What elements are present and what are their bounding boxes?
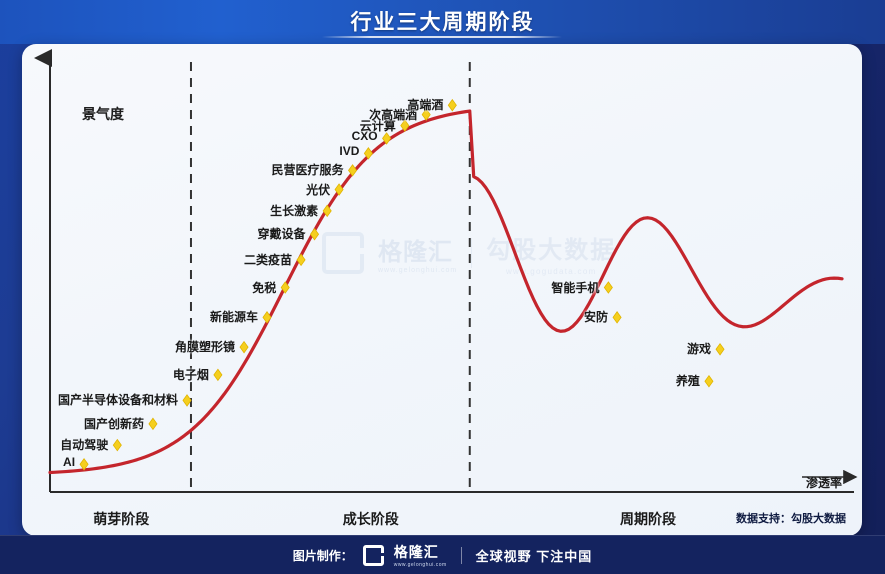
data-point-label: AI — [63, 455, 75, 469]
data-point-label: 民营医疗服务 — [272, 161, 344, 178]
gelonghui-logo-icon-footer — [363, 545, 384, 566]
data-point-label: 国产半导体设备和材料 — [58, 391, 178, 408]
data-point-marker[interactable] — [240, 342, 248, 353]
x-axis-label: 渗透率 — [806, 474, 842, 491]
data-point-label: 安防 — [584, 308, 608, 325]
data-point-marker[interactable] — [604, 282, 612, 293]
data-point-label: 生长激素 — [270, 202, 318, 219]
title-underline — [322, 36, 562, 38]
footer-slogan: 全球视野 下注中国 — [476, 546, 593, 565]
data-point-label: 免税 — [252, 279, 276, 296]
page-title: 行业三大周期阶段 — [0, 6, 885, 36]
data-source-note: 数据支持：勾股大数据 — [736, 510, 846, 526]
chart-svg — [22, 44, 862, 536]
data-point-label: 养殖 — [676, 372, 700, 389]
footer-brand-url: www.gelonghui.com — [394, 562, 447, 568]
data-point-label: 光伏 — [306, 181, 330, 198]
stage-label: 成长阶段 — [343, 509, 399, 529]
data-point-label: 二类疫苗 — [244, 251, 292, 268]
data-point-label: 角膜塑形镜 — [175, 338, 235, 355]
data-point-label: IVD — [339, 144, 359, 158]
data-point-label: 新能源车 — [210, 308, 258, 325]
data-point-markers — [80, 100, 724, 470]
data-point-label: 自动驾驶 — [60, 436, 108, 453]
data-point-marker[interactable] — [448, 100, 456, 111]
data-point-marker[interactable] — [716, 344, 724, 355]
footer-divider — [461, 547, 462, 564]
data-point-marker[interactable] — [613, 312, 621, 323]
data-point-label: 高端酒 — [407, 96, 443, 113]
data-point-marker[interactable] — [149, 418, 157, 429]
data-point-label: 国产创新药 — [84, 415, 144, 432]
trend-curve — [50, 111, 842, 472]
y-axis-label: 景气度 — [82, 104, 124, 124]
stage-divider-lines — [191, 62, 470, 492]
stage-label: 萌芽阶段 — [93, 509, 149, 529]
data-point-label: 智能手机 — [551, 279, 599, 296]
data-point-marker[interactable] — [214, 369, 222, 380]
data-point-label: 穿戴设备 — [258, 225, 306, 242]
data-point-marker[interactable] — [113, 440, 121, 451]
data-point-label: 电子烟 — [173, 366, 209, 383]
footer-bar: 图片制作： 格隆汇 www.gelonghui.com 全球视野 下注中国 — [0, 535, 885, 574]
data-point-marker[interactable] — [183, 395, 191, 406]
chart-axes — [50, 58, 856, 492]
chart-card: 格隆汇 www.gelonghui.com 勾股大数据 www.gogudata… — [22, 44, 862, 536]
footer-brand: 格隆汇 — [394, 544, 439, 560]
chart-plot-area — [22, 44, 862, 536]
data-point-marker[interactable] — [705, 376, 713, 387]
data-point-label: 游戏 — [687, 340, 711, 357]
footer-made-by-label: 图片制作： — [293, 547, 353, 564]
stage-label: 周期阶段 — [620, 509, 676, 529]
